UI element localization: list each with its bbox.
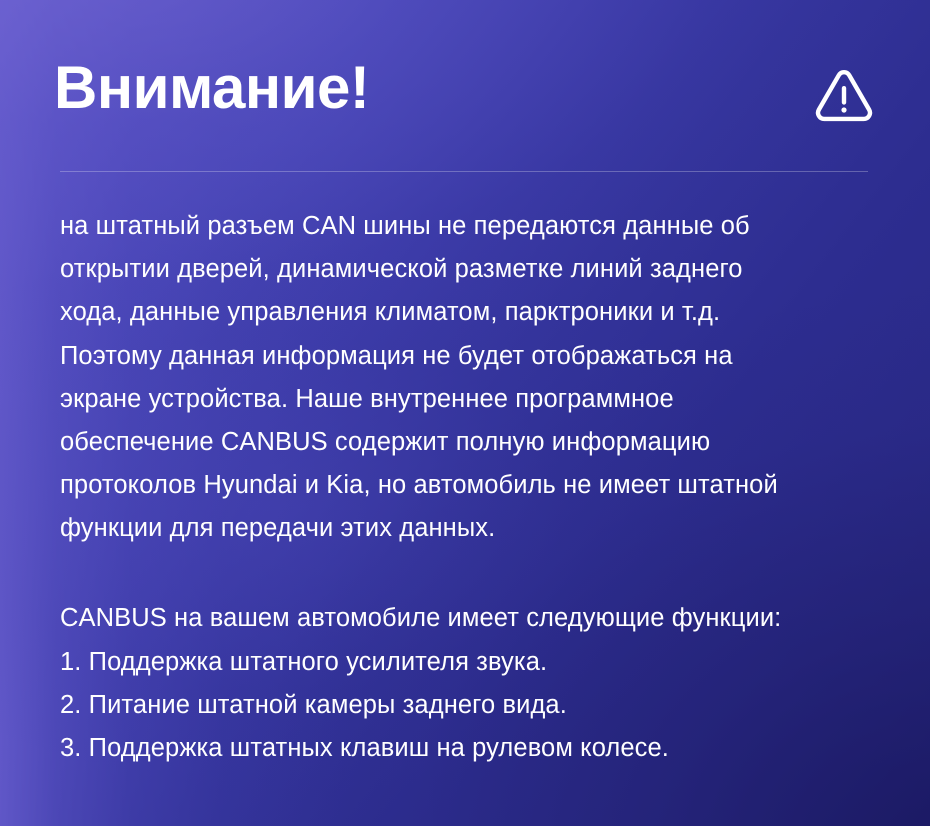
list-item: 3. Поддержка штатных клавиш на рулевом к… bbox=[60, 727, 888, 770]
banner-header: Внимание! bbox=[0, 0, 930, 170]
warning-banner: Внимание! на штатный разъем CAN шины не … bbox=[0, 0, 930, 826]
warning-triangle-icon bbox=[813, 66, 875, 124]
notice-line: обеспечение CANBUS содержит полную инфор… bbox=[60, 421, 888, 464]
features-intro: CANBUS на вашем автомобиле имеет следующ… bbox=[60, 597, 888, 640]
page-title: Внимание! bbox=[54, 58, 369, 118]
list-item: 2. Питание штатной камеры заднего вида. bbox=[60, 684, 888, 727]
notice-line: Поэтому данная информация не будет отобр… bbox=[60, 335, 888, 378]
list-item: 1. Поддержка штатного усилителя звука. bbox=[60, 641, 888, 684]
notice-paragraph: на штатный разъем CAN шины не передаются… bbox=[60, 205, 888, 551]
notice-line: открытии дверей, динамической разметке л… bbox=[60, 248, 888, 291]
header-divider bbox=[60, 171, 868, 172]
banner-body: на штатный разъем CAN шины не передаются… bbox=[60, 205, 888, 770]
features-section: CANBUS на вашем автомобиле имеет следующ… bbox=[60, 597, 888, 771]
notice-line: экране устройства. Наше внутреннее прогр… bbox=[60, 378, 888, 421]
notice-line: на штатный разъем CAN шины не передаются… bbox=[60, 205, 888, 248]
notice-line: протоколов Hyundai и Kia, но автомобиль … bbox=[60, 464, 888, 507]
notice-line: функции для передачи этих данных. bbox=[60, 507, 888, 550]
features-list: 1. Поддержка штатного усилителя звука. 2… bbox=[60, 641, 888, 771]
notice-line: хода, данные управления климатом, парктр… bbox=[60, 291, 888, 334]
content-area: Внимание! на штатный разъем CAN шины не … bbox=[0, 0, 930, 826]
